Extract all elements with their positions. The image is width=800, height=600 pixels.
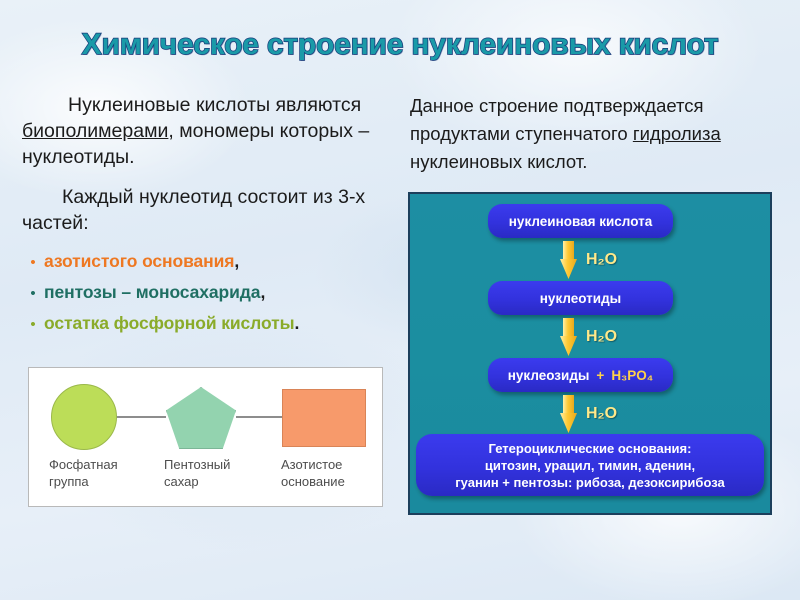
bullet-dot-icon: • — [22, 283, 44, 305]
down-arrow-icon — [560, 318, 577, 356]
term-biopolymers: биополимерами — [22, 120, 168, 142]
list-item-label: остатка фосфорной кислоты. — [44, 312, 299, 334]
label-line-2: группа — [49, 473, 154, 490]
list-item-text: азотистого основания — [44, 251, 234, 271]
phosphoric-acid-formula: H₃PO₄ — [611, 368, 653, 383]
flow-box-nucleic-acid-label: нуклеиновая кислота — [509, 214, 652, 229]
nucleotide-shapes-row — [29, 368, 382, 464]
label-pentose-sugar: Пентозный сахар — [164, 456, 269, 490]
list-item-punct: , — [234, 251, 239, 271]
list-item: • пентозы – моносахарида, — [22, 281, 394, 305]
nucleotide-structure-diagram: Фосфатная группа Пентозный сахар Азотист… — [28, 367, 383, 507]
flow-arrow-group-3: H₂O — [560, 394, 680, 434]
right-text-column: Данное строение подтверждается продуктам… — [410, 92, 782, 176]
nucleotide-parts-list: • азотистого основания, • пентозы – моно… — [22, 250, 394, 336]
bullet-dot-icon: • — [22, 314, 44, 336]
down-arrow-icon — [560, 241, 577, 279]
paragraph-hydrolysis: Данное строение подтверждается продуктам… — [410, 92, 782, 176]
list-item-text: пентозы – моносахарида — [44, 282, 260, 302]
list-item-label: азотистого основания, — [44, 250, 239, 272]
bond-line-1 — [117, 416, 166, 418]
arrow-stem — [563, 395, 574, 415]
flow-box-heterocyclic-bases: Гетероциклические основания: цитозин, ур… — [416, 434, 764, 496]
list-item: • остатка фосфорной кислоты. — [22, 312, 394, 336]
down-arrow-icon — [560, 395, 577, 433]
label-line-1: Пентозный — [164, 456, 269, 473]
list-item-text: остатка фосфорной кислоты — [44, 313, 294, 333]
label-line-1: Азотистое — [281, 456, 391, 473]
page-title: Химическое строение нуклеиновых кислот — [0, 28, 800, 62]
label-line-1: Фосфатная — [49, 456, 154, 473]
arrow-head — [560, 413, 577, 433]
arrow-stem — [563, 241, 574, 261]
heterocyclic-bases-line-2: цитозин, урацил, тимин, аденин, — [485, 457, 695, 474]
nitrogenous-base-rectangle-icon — [282, 389, 366, 447]
list-item-punct: , — [260, 282, 265, 302]
arrow-stem — [563, 318, 574, 338]
heterocyclic-bases-line-1: Гетероциклические основания: — [489, 440, 692, 457]
list-item-punct: . — [294, 313, 299, 333]
flow-box-nucleotides: нуклеотиды — [488, 281, 673, 315]
heterocyclic-bases-line-3: гуанин + пентозы: рибоза, дезоксирибоза — [455, 474, 724, 491]
flow-box-nucleosides-label: нуклеозиды — [508, 368, 590, 383]
arrow-head — [560, 259, 577, 279]
flow-arrow-group-1: H₂O — [560, 240, 680, 280]
arrow-head — [560, 336, 577, 356]
flow-box-nucleic-acid: нуклеиновая кислота — [488, 204, 673, 238]
paragraph-definition-part1: Нуклеиновые кислоты являются — [68, 94, 361, 116]
paragraph-hydrolysis-part2: нуклеиновых кислот. — [410, 151, 587, 172]
pentose-sugar-pentagon-icon — [166, 387, 236, 449]
label-line-2: сахар — [164, 473, 269, 490]
list-item: • азотистого основания, — [22, 250, 394, 274]
plus-sign: + — [596, 368, 604, 383]
left-text-column: Нуклеиновые кислоты являются биополимера… — [22, 92, 394, 343]
term-hydrolysis: гидролиза — [633, 123, 721, 144]
flow-box-nucleotides-label: нуклеотиды — [540, 291, 621, 306]
label-nitrogenous-base: Азотистое основание — [281, 456, 391, 490]
water-reagent-label: H₂O — [586, 328, 617, 346]
label-line-2: основание — [281, 473, 391, 490]
flow-box-nucleosides: нуклеозиды + H₃PO₄ — [488, 358, 673, 392]
water-reagent-label: H₂O — [586, 251, 617, 269]
water-reagent-label: H₂O — [586, 405, 617, 423]
paragraph-definition: Нуклеиновые кислоты являются биополимера… — [22, 92, 394, 170]
label-phosphate-group: Фосфатная группа — [49, 456, 154, 490]
hydrolysis-flow-diagram: нуклеиновая кислота H₂O нуклеотиды H₂O н… — [408, 192, 772, 515]
bullet-dot-icon: • — [22, 252, 44, 274]
list-item-label: пентозы – моносахарида, — [44, 281, 265, 303]
slide-root: Химическое строение нуклеиновых кислот Н… — [0, 0, 800, 600]
phosphate-group-circle-icon — [51, 384, 117, 450]
bond-line-2 — [236, 416, 283, 418]
flow-arrow-group-2: H₂O — [560, 317, 680, 357]
paragraph-three-parts: Каждый нуклеотид состоит из 3-х частей: — [22, 184, 394, 236]
